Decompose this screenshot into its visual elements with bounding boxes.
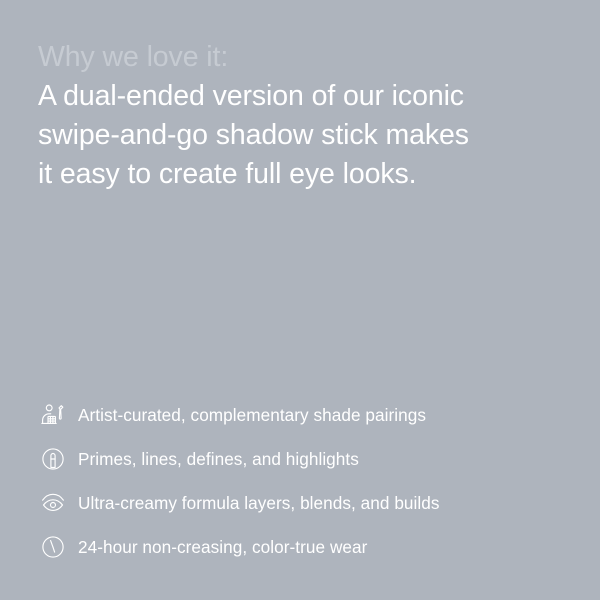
pen-applicator-icon [40,446,66,472]
feature-label: Artist-curated, complementary shade pair… [78,404,426,426]
headline-eyebrow: Why we love it: [38,38,568,77]
feature-item-ultra-creamy: Ultra-creamy formula layers, blends, and… [40,481,570,525]
headline-line-1: A dual-ended version of our iconic [38,77,568,116]
feature-item-24-hour-wear: 24-hour non-creasing, color-true wear [40,525,570,569]
headline-block: Why we love it: A dual-ended version of … [38,38,568,194]
headline-line-2: swipe-and-go shadow stick makes [38,116,568,155]
feature-item-primes-lines: Primes, lines, defines, and highlights [40,437,570,481]
feature-list: Artist-curated, complementary shade pair… [40,393,570,569]
artist-palette-icon [40,402,66,428]
eye-icon [40,490,66,516]
feature-label: Ultra-creamy formula layers, blends, and… [78,492,440,514]
headline-line-3: it easy to create full eye looks. [38,155,568,194]
feature-label: Primes, lines, defines, and highlights [78,448,359,470]
clock-icon [40,534,66,560]
feature-item-artist-curated: Artist-curated, complementary shade pair… [40,393,570,437]
product-benefits-panel: Why we love it: A dual-ended version of … [0,0,600,600]
feature-label: 24-hour non-creasing, color-true wear [78,536,367,558]
